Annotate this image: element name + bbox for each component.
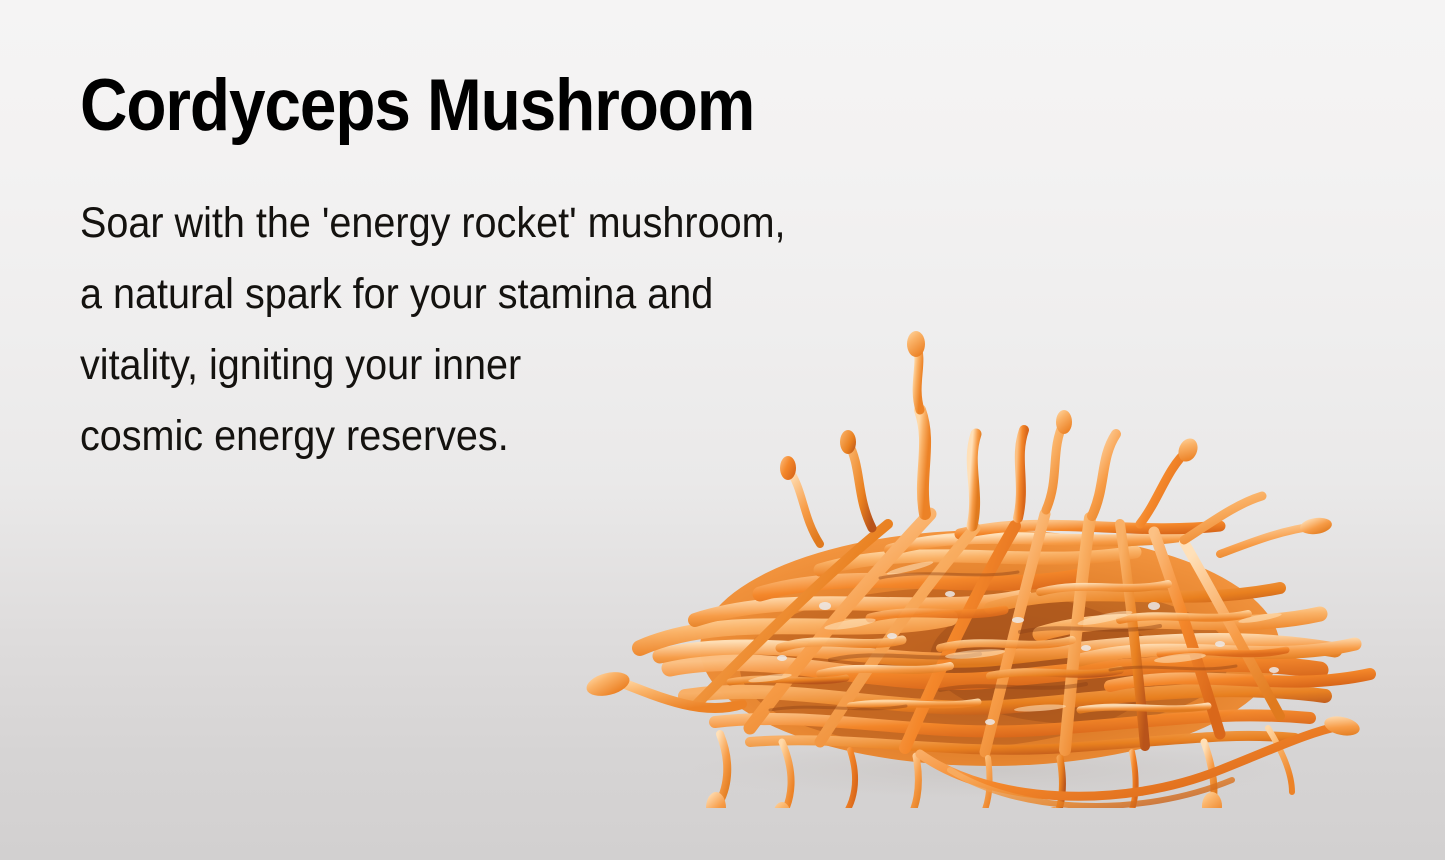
mushroom-shadow <box>690 740 1290 800</box>
mushroom-gaps <box>777 591 1279 725</box>
mushroom-highlights <box>748 559 1282 713</box>
cordyceps-hero-banner: Cordyceps Mushroom Soar with the 'energy… <box>0 0 1445 860</box>
description-line-3: vitality, igniting your inner <box>80 330 890 401</box>
hero-text-block: Cordyceps Mushroom Soar with the 'energy… <box>80 68 960 472</box>
description-line-4: cosmic energy reserves. <box>80 401 890 472</box>
description-line-2: a natural spark for your stamina and <box>80 259 890 330</box>
hero-description: Soar with the 'energy rocket' mushroom, … <box>80 144 890 472</box>
page-title: Cordyceps Mushroom <box>80 68 872 144</box>
mushroom-core <box>700 530 1280 766</box>
description-line-1: Soar with the 'energy rocket' mushroom, <box>80 188 890 259</box>
